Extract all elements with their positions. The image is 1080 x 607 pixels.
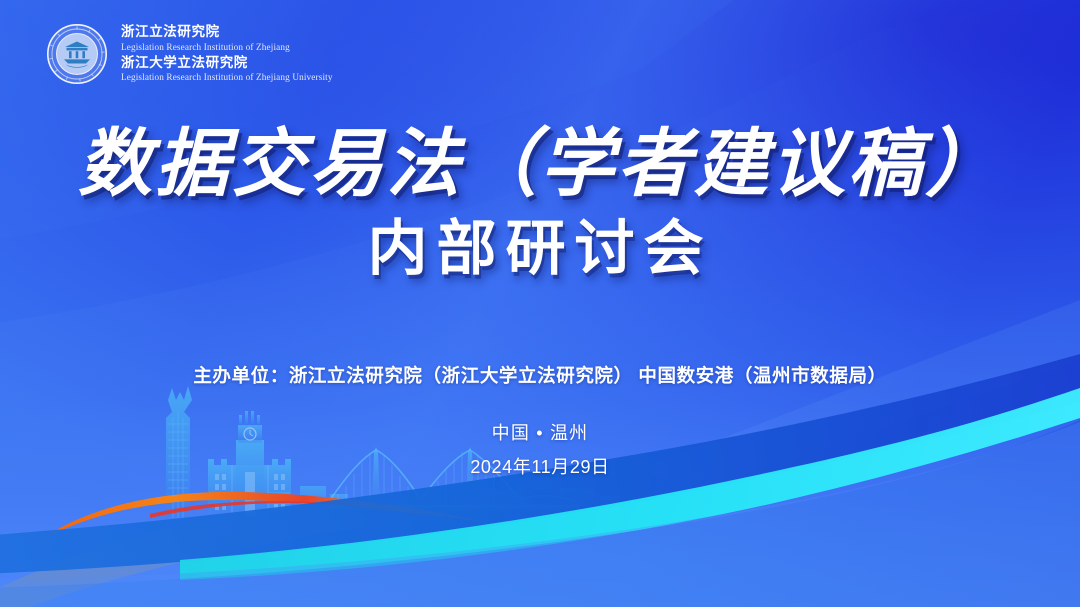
brand-line1-cn: 浙江立法研究院 — [121, 24, 333, 40]
event-date: 2024年11月29日 — [0, 453, 1080, 479]
slide-meta-block: 主办单位：浙江立法研究院（浙江大学立法研究院） 中国数安港（温州市数据局） 中国… — [0, 362, 1080, 479]
brand-text-block: 浙江立法研究院 Legislation Research Institution… — [121, 24, 333, 84]
slide-title-sub: 内部研讨会 — [0, 217, 1080, 280]
brand-line1-en: Legislation Research Institution of Zhej… — [121, 41, 333, 53]
decorative-artwork — [0, 0, 1080, 607]
institution-seal-icon — [46, 23, 108, 85]
title-block: 数据交易法（学者建议稿） 内部研讨会 — [0, 126, 1080, 280]
presentation-title-slide: 浙江立法研究院 Legislation Research Institution… — [0, 0, 1080, 607]
slide-title-main: 数据交易法（学者建议稿） — [0, 126, 1080, 203]
brand-line2-cn: 浙江大学立法研究院 — [121, 55, 333, 71]
brand-lockup: 浙江立法研究院 Legislation Research Institution… — [46, 23, 333, 85]
host-organizations: 主办单位：浙江立法研究院（浙江大学立法研究院） 中国数安港（温州市数据局） — [0, 362, 1080, 388]
event-location: 中国 • 温州 — [0, 419, 1080, 445]
brand-line2-en: Legislation Research Institution of Zhej… — [121, 71, 333, 83]
